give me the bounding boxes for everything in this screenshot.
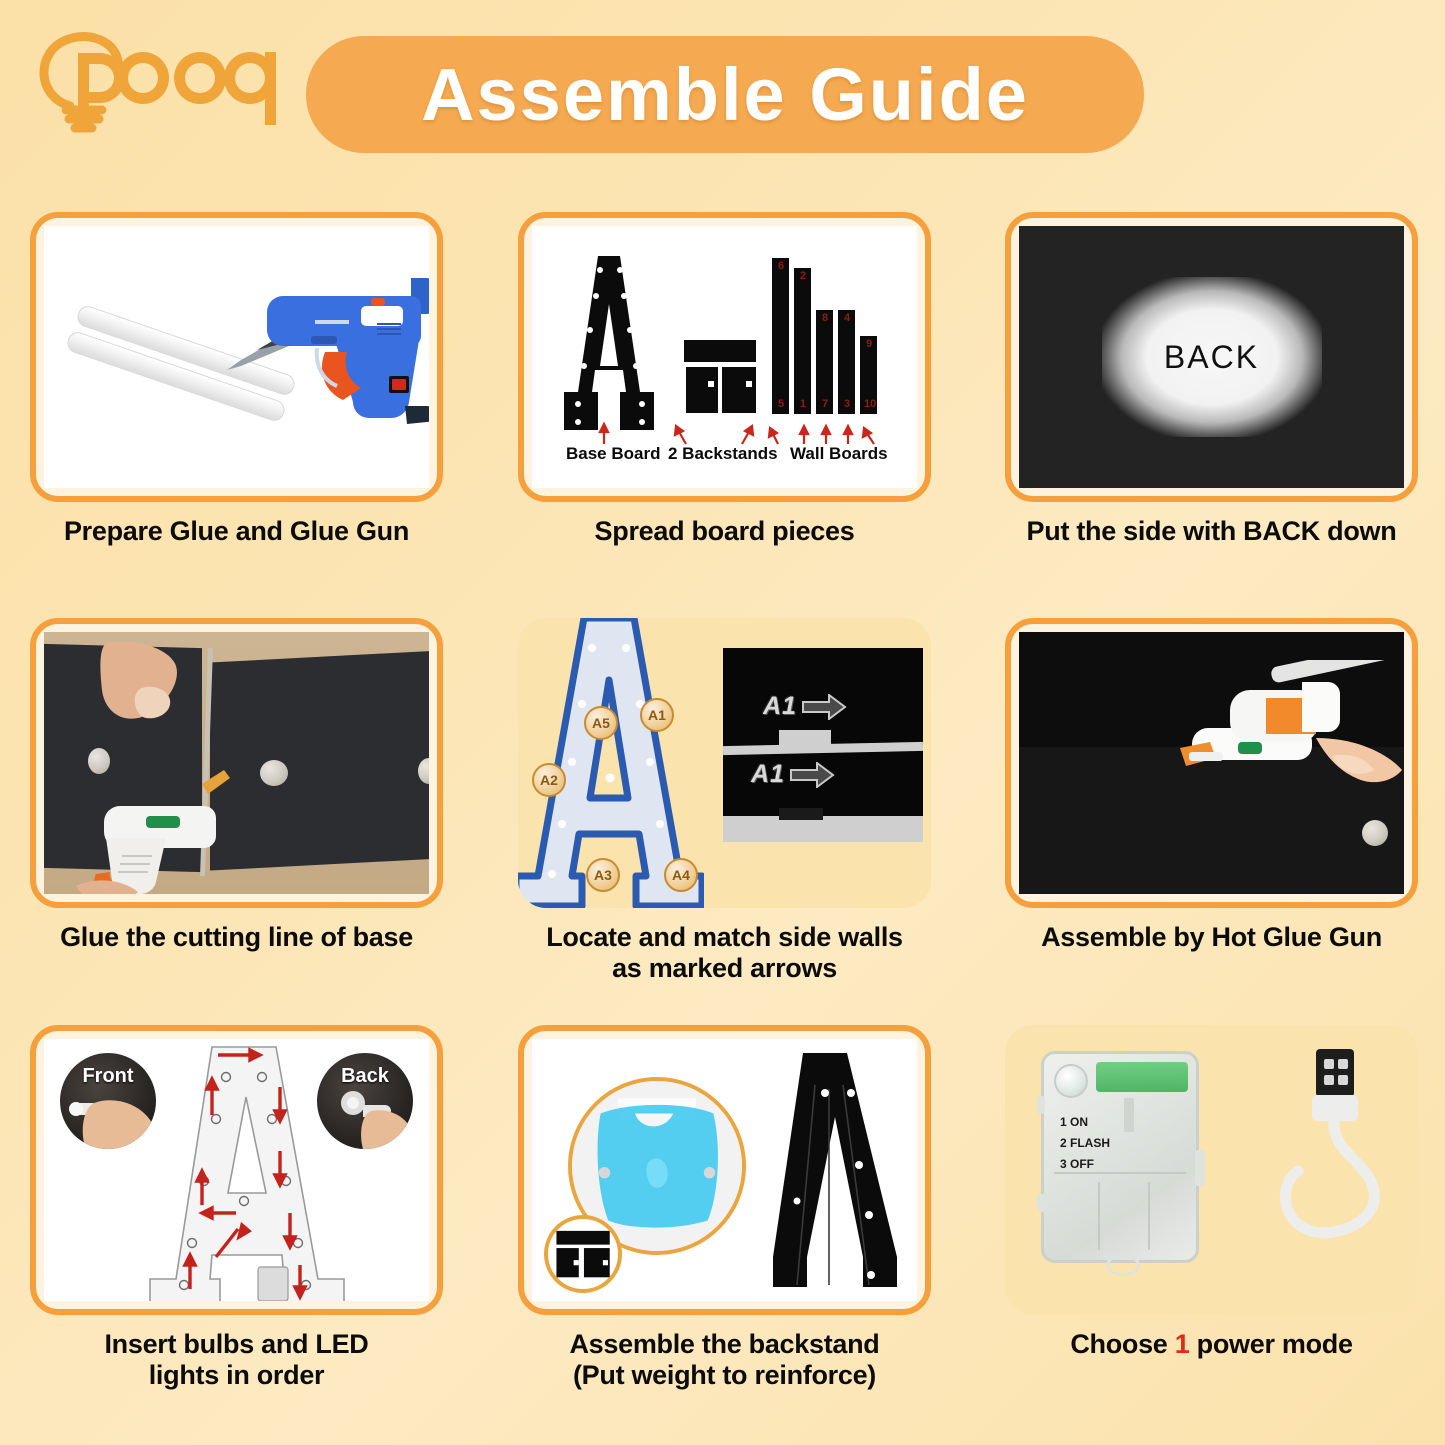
wall-board-number: 6 xyxy=(778,260,784,272)
back-marking-glow: BACK xyxy=(1102,277,1322,437)
wall-board-number: 10 xyxy=(864,398,876,410)
battery-mode-list: 1 ON 2 FLASH 3 OFF xyxy=(1060,1112,1110,1175)
battery-box-clip xyxy=(1037,1194,1045,1212)
step-card-5: A5 A1 A2 A3 A4 A1 xyxy=(518,618,931,985)
bulb-hole-cover xyxy=(260,760,288,786)
step-1-photo xyxy=(44,226,429,488)
black-board-scene xyxy=(1019,632,1404,894)
mode-switch-button[interactable] xyxy=(1054,1064,1088,1098)
step-9-caption-suffix: power mode xyxy=(1189,1329,1352,1359)
wall-badge-a3: A3 xyxy=(586,858,620,892)
board-pieces-diagram: 6 2 8 4 9 5 1 7 3 10 xyxy=(532,226,917,488)
step-2-image-frame: 6 2 8 4 9 5 1 7 3 10 xyxy=(518,212,931,502)
backstand-notch xyxy=(746,381,752,387)
arrow-tag-label: A1 xyxy=(751,760,785,789)
wall-slot xyxy=(779,808,823,820)
step-1-image-frame xyxy=(30,212,443,502)
backstand-pieces-icon xyxy=(553,1224,613,1284)
wall-board-number: 5 xyxy=(778,398,784,410)
step-1-caption: Prepare Glue and Glue Gun xyxy=(30,516,443,547)
step-8-caption-line2: (Put weight to reinforce) xyxy=(518,1360,931,1391)
part-pointer-arrows-icon xyxy=(556,418,886,446)
step-8-caption-line1: Assemble the backstand xyxy=(518,1329,931,1360)
page-header: Assemble Guide xyxy=(0,0,1445,200)
steps-grid: Prepare Glue and Glue Gun xyxy=(0,200,1445,1445)
wall-board-number: 1 xyxy=(800,398,806,410)
arrow-tag-top: A1 xyxy=(763,692,847,721)
step-card-7: Front Back xyxy=(30,1025,443,1392)
step-9-image-frame: 1 ON 2 FLASH 3 OFF xyxy=(1005,1025,1418,1315)
battery-divider xyxy=(1098,1182,1100,1250)
usb-cable-icon xyxy=(1258,1043,1408,1271)
page-title: Assemble Guide xyxy=(421,52,1029,137)
front-label: Front xyxy=(60,1065,156,1088)
step-5-caption-line2: as marked arrows xyxy=(518,953,931,984)
white-hot-glue-gun-icon xyxy=(1120,660,1404,820)
wall-badge-a1: A1 xyxy=(640,698,674,732)
part-label-backstands: 2 Backstands xyxy=(668,444,778,464)
wall-board-number: 4 xyxy=(844,312,850,324)
wall-board-number: 3 xyxy=(844,398,850,410)
step-5-caption-line1: Locate and match side walls xyxy=(518,922,931,953)
battery-spring-contact xyxy=(1124,1098,1134,1132)
backstand-piece xyxy=(722,367,756,413)
step-4-photo xyxy=(44,632,429,894)
wall-tab xyxy=(779,730,831,746)
wall-board-number: 9 xyxy=(866,338,872,350)
step-2-diagram: 6 2 8 4 9 5 1 7 3 10 xyxy=(532,226,917,488)
brand-logo xyxy=(22,18,292,136)
battery-box: 1 ON 2 FLASH 3 OFF xyxy=(1041,1051,1199,1263)
step-4-image-frame xyxy=(30,618,443,908)
step-card-4: Glue the cutting line of base xyxy=(30,618,443,953)
step-card-1: Prepare Glue and Glue Gun xyxy=(30,212,443,547)
step-5-image-frame: A5 A1 A2 A3 A4 A1 xyxy=(518,618,931,908)
lightbulb-p-logo-icon xyxy=(22,18,292,136)
step-9-caption-highlight: 1 xyxy=(1175,1329,1190,1359)
page-title-banner: Assemble Guide xyxy=(306,36,1144,153)
side-wall-match-photo: A1 A1 xyxy=(723,648,923,840)
wall-badge-a2: A2 xyxy=(532,763,566,797)
step-card-8: Assemble the backstand (Put weight to re… xyxy=(518,1025,931,1392)
backstand-piece xyxy=(684,340,756,362)
back-label: BACK xyxy=(1164,339,1259,376)
step-8-photo xyxy=(532,1039,917,1301)
battery-box-seam xyxy=(1054,1172,1186,1174)
step-6-caption: Assemble by Hot Glue Gun xyxy=(1005,922,1418,953)
step-7-diagram: Front Back xyxy=(44,1039,429,1301)
step-9-caption: Choose 1 power mode xyxy=(1005,1329,1418,1360)
step-3-image-frame: BACK xyxy=(1005,212,1418,502)
bulb-hole-cover xyxy=(1362,820,1388,846)
arrow-tag-label: A1 xyxy=(763,692,797,721)
step-card-9: 1 ON 2 FLASH 3 OFF xyxy=(1005,1025,1418,1360)
backstand-piece-inset xyxy=(544,1215,622,1293)
step-7-caption-line2: lights in order xyxy=(30,1360,443,1391)
backstand-notch xyxy=(708,381,714,387)
wall-board-number: 8 xyxy=(822,312,828,324)
wall-board-piece xyxy=(794,268,811,414)
step-5-caption: Locate and match side walls as marked ar… xyxy=(518,922,931,985)
step-4-caption: Glue the cutting line of base xyxy=(30,922,443,953)
back-label: Back xyxy=(317,1065,413,1088)
battery-mode-2: 2 FLASH xyxy=(1060,1133,1110,1154)
wall-badge-a5: A5 xyxy=(584,706,618,740)
right-arrow-icon xyxy=(789,762,835,788)
blue-glue-gun-icon xyxy=(165,260,429,440)
front-inset-photo: Front xyxy=(60,1053,156,1149)
wall-badge-a4: A4 xyxy=(664,858,698,892)
base-board-letter-a xyxy=(564,254,654,444)
arrow-tag-bottom: A1 xyxy=(751,760,835,789)
wall-board-piece xyxy=(772,258,789,414)
hand-holding-board-icon xyxy=(80,642,196,734)
led-circuit-board xyxy=(1096,1062,1188,1092)
battery-box-latch[interactable] xyxy=(1195,1150,1205,1186)
step-6-image-frame xyxy=(1005,618,1418,908)
glue-residue xyxy=(1189,752,1223,761)
battery-mode-1: 1 ON xyxy=(1060,1112,1110,1133)
step-9-caption-prefix: Choose xyxy=(1070,1329,1174,1359)
step-3-caption: Put the side with BACK down xyxy=(1005,516,1418,547)
base-board-edge xyxy=(723,816,923,842)
right-arrow-icon xyxy=(801,694,847,720)
step-9-photo: 1 ON 2 FLASH 3 OFF xyxy=(1005,1025,1418,1315)
step-7-caption: Insert bulbs and LED lights in order xyxy=(30,1329,443,1392)
assembled-backstand-icon xyxy=(751,1049,911,1301)
part-label-base-board: Base Board xyxy=(566,444,660,464)
step-2-caption: Spread board pieces xyxy=(518,516,931,547)
backstand-piece xyxy=(686,367,718,413)
battery-box-clip xyxy=(1037,1096,1045,1114)
back-inset-photo: Back xyxy=(317,1053,413,1149)
step-6-photo xyxy=(1019,632,1404,894)
step-3-photo: BACK xyxy=(1019,226,1404,488)
step-8-caption: Assemble the backstand (Put weight to re… xyxy=(518,1329,931,1392)
step-8-image-frame xyxy=(518,1025,931,1315)
step-card-6: Assemble by Hot Glue Gun xyxy=(1005,618,1418,953)
battery-box-loop xyxy=(1106,1254,1140,1276)
part-label-wall-boards: Wall Boards xyxy=(790,444,888,464)
wall-board-number: 2 xyxy=(800,270,806,282)
battery-divider xyxy=(1148,1182,1150,1250)
step-card-3: BACK Put the side with BACK down xyxy=(1005,212,1418,547)
step-7-image-frame: Front Back xyxy=(30,1025,443,1315)
step-card-2: 6 2 8 4 9 5 1 7 3 10 xyxy=(518,212,931,547)
wall-board-number: 7 xyxy=(822,398,828,410)
white-glue-gun-icon xyxy=(60,768,240,894)
step-7-caption-line1: Insert bulbs and LED xyxy=(30,1329,443,1360)
black-board-right xyxy=(210,649,429,870)
step-5-diagram: A5 A1 A2 A3 A4 A1 xyxy=(518,618,931,908)
